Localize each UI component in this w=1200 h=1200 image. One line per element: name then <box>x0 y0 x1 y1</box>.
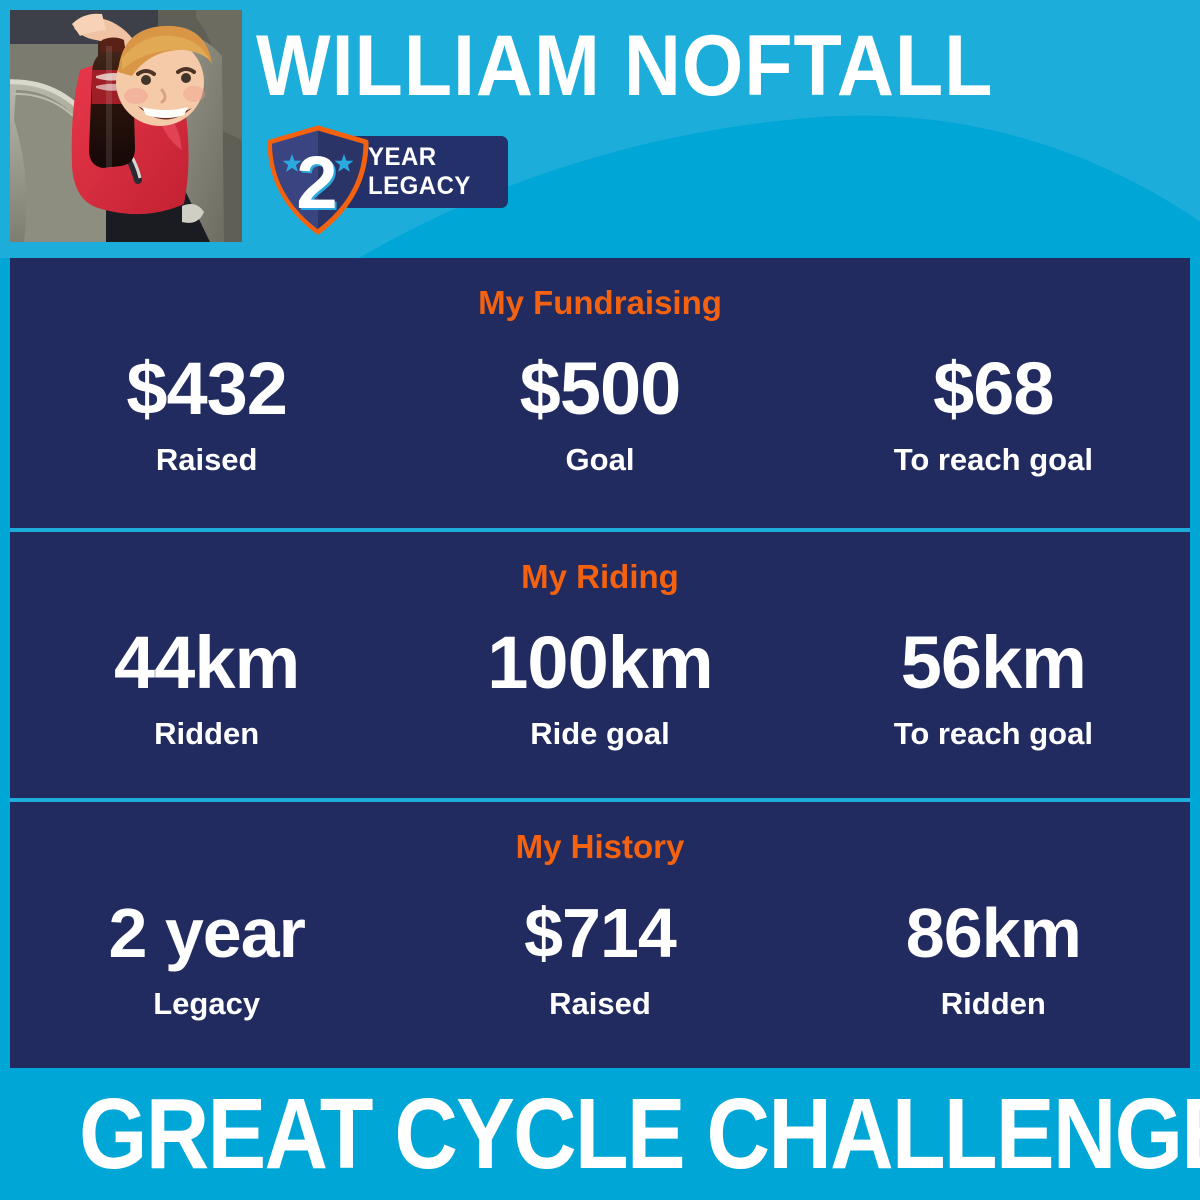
stat-value: $500 <box>403 346 796 432</box>
legacy-badge-plate-text: YEAR LEGACY <box>368 143 471 201</box>
rider-photo <box>10 10 242 242</box>
stat-value: 56km <box>797 620 1190 706</box>
footer-logo-text: GREAT CYCLE CHALLENGE <box>79 1084 1200 1184</box>
section-title-history: My History <box>10 828 1190 866</box>
stat-to-reach-goal: $68 To reach goal <box>797 346 1190 478</box>
section-history: My History 2 year Legacy $714 Raised 86k… <box>10 798 1190 1068</box>
shield-icon: 2 2 <box>262 124 374 236</box>
stat-label: Raised <box>10 442 403 478</box>
stats-panel: My Fundraising $432 Raised $500 Goal $68… <box>10 258 1190 1068</box>
stat-label: Ridden <box>10 716 403 752</box>
stat-value: 44km <box>10 620 403 706</box>
stat-value: 86km <box>797 890 1190 976</box>
legacy-badge-legacy-label: LEGACY <box>368 172 471 201</box>
stat-value: $68 <box>797 346 1190 432</box>
stat-label: Raised <box>403 986 796 1022</box>
stat-label: Ridden <box>797 986 1190 1022</box>
stats-row-riding: 44km Ridden 100km Ride goal 56km To reac… <box>10 620 1190 752</box>
stat-km-to-reach-goal: 56km To reach goal <box>797 620 1190 752</box>
stat-value: $714 <box>403 890 796 976</box>
footer-banner: GREAT CYCLE CHALLENGE <box>0 1068 1200 1200</box>
stat-lifetime-raised: $714 Raised <box>403 890 796 1022</box>
section-title-riding: My Riding <box>10 558 1190 596</box>
stat-raised: $432 Raised <box>10 346 403 478</box>
stat-ridden: 44km Ridden <box>10 620 403 752</box>
stat-label: To reach goal <box>797 716 1190 752</box>
stats-row-fundraising: $432 Raised $500 Goal $68 To reach goal <box>10 346 1190 478</box>
great-cycle-challenge-logo: GREAT CYCLE CHALLENGE <box>0 1084 1200 1184</box>
stats-row-history: 2 year Legacy $714 Raised 86km Ridden <box>10 890 1190 1022</box>
rider-photo-image <box>10 10 242 242</box>
stat-label: Goal <box>403 442 796 478</box>
stat-goal: $500 Goal <box>403 346 796 478</box>
stat-ride-goal: 100km Ride goal <box>403 620 796 752</box>
stat-value: $432 <box>10 346 403 432</box>
stat-value: 2 year <box>10 890 403 976</box>
stat-value: 100km <box>403 620 796 706</box>
fundraising-poster: WILLIAM NOFTALL YEAR LEGACY 2 2 My Fundr… <box>0 0 1200 1200</box>
stat-legacy-years: 2 year Legacy <box>10 890 403 1022</box>
legacy-badge: YEAR LEGACY 2 2 <box>262 124 512 236</box>
legacy-badge-year-label: YEAR <box>368 143 471 172</box>
rider-name: WILLIAM NOFTALL <box>256 20 1112 112</box>
stat-lifetime-ridden: 86km Ridden <box>797 890 1190 1022</box>
stat-label: Legacy <box>10 986 403 1022</box>
section-title-fundraising: My Fundraising <box>10 284 1190 322</box>
shield-number: 2 <box>296 141 337 224</box>
stat-label: Ride goal <box>403 716 796 752</box>
stat-label: To reach goal <box>797 442 1190 478</box>
header-banner: WILLIAM NOFTALL YEAR LEGACY 2 2 <box>0 0 1200 258</box>
section-fundraising: My Fundraising $432 Raised $500 Goal $68… <box>10 258 1190 528</box>
section-riding: My Riding 44km Ridden 100km Ride goal 56… <box>10 528 1190 798</box>
